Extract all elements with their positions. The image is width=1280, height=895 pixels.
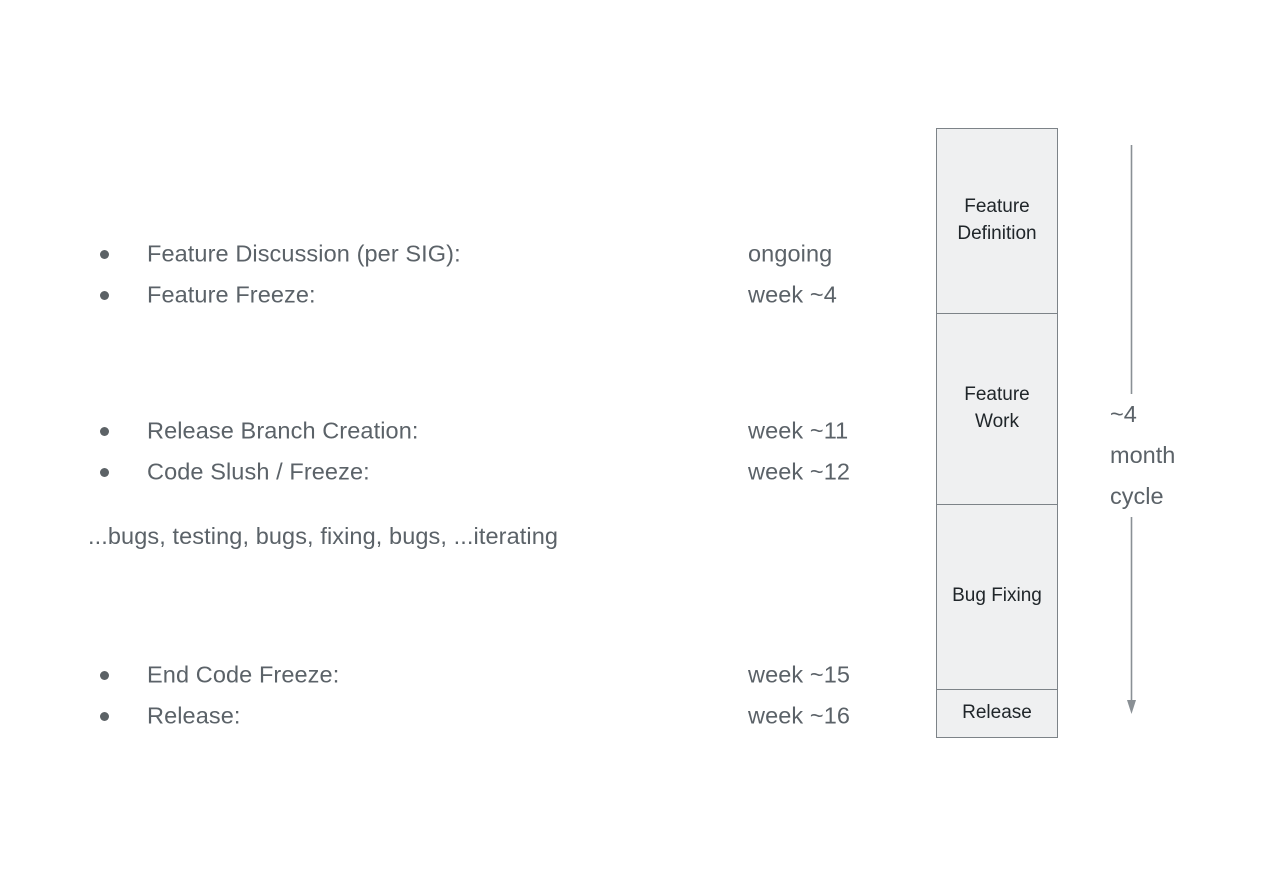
phase-label: Feature Work — [941, 382, 1053, 436]
milestone-value: week ~15 — [748, 661, 850, 688]
milestone-label: Feature Discussion (per SIG): — [147, 240, 461, 267]
phase-label: Release — [962, 700, 1032, 727]
milestone-value: ongoing — [748, 240, 832, 267]
milestone-row: Feature Discussion (per SIG): ongoing — [0, 233, 920, 274]
bullet-icon — [100, 468, 109, 477]
iteration-note: ...bugs, testing, bugs, fixing, bugs, ..… — [88, 523, 558, 550]
phase-segment-bug-fixing: Bug Fixing — [937, 505, 1057, 690]
bullet-icon — [100, 712, 109, 721]
milestone-row: End Code Freeze: week ~15 — [0, 654, 920, 695]
milestone-group-3: End Code Freeze: week ~15 Release: week … — [0, 654, 920, 736]
phase-segment-release: Release — [937, 690, 1057, 737]
phase-label: Bug Fixing — [952, 583, 1042, 610]
bullet-icon — [100, 250, 109, 259]
milestone-label: Release Branch Creation: — [147, 417, 419, 444]
milestone-value: week ~4 — [748, 281, 837, 308]
milestone-label: Release: — [147, 702, 241, 729]
bullet-icon — [100, 427, 109, 436]
milestone-row: Release Branch Creation: week ~11 — [0, 410, 920, 451]
slide-canvas: Feature Discussion (per SIG): ongoing Fe… — [0, 0, 1280, 895]
bullet-icon — [100, 671, 109, 680]
milestone-label: Feature Freeze: — [147, 281, 316, 308]
phase-segment-feature-definition: Feature Definition — [937, 129, 1057, 314]
phase-segment-feature-work: Feature Work — [937, 314, 1057, 504]
phase-timeline-bar: Feature Definition Feature Work Bug Fixi… — [936, 128, 1058, 738]
bullet-icon — [100, 291, 109, 300]
milestone-row: Release: week ~16 — [0, 695, 920, 736]
milestone-value: week ~11 — [748, 417, 848, 444]
milestone-value: week ~12 — [748, 458, 850, 485]
milestone-label: End Code Freeze: — [147, 661, 339, 688]
phase-label: Feature Definition — [941, 194, 1053, 248]
cycle-duration-label: ~4 month cycle — [1110, 394, 1240, 517]
milestone-group-2: Release Branch Creation: week ~11 Code S… — [0, 410, 920, 492]
milestone-value: week ~16 — [748, 702, 850, 729]
milestone-row: Code Slush / Freeze: week ~12 — [0, 451, 920, 492]
milestone-label: Code Slush / Freeze: — [147, 458, 370, 485]
milestone-row: Feature Freeze: week ~4 — [0, 274, 920, 315]
milestone-group-1: Feature Discussion (per SIG): ongoing Fe… — [0, 233, 920, 315]
